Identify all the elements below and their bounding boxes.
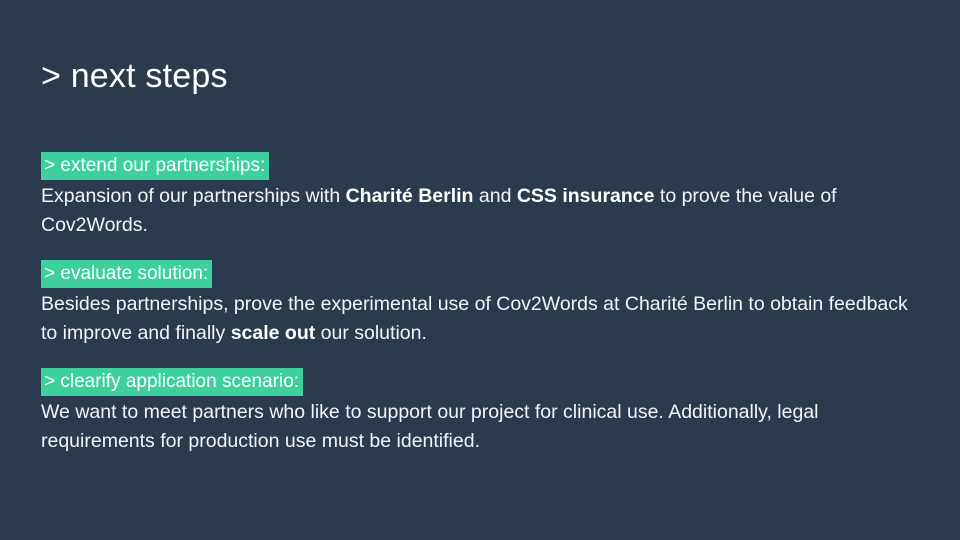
section-heading-highlight: > extend our partnerships: [41, 152, 269, 180]
section-clearify-application-scenario: > clearify application scenario: We want… [41, 368, 931, 456]
emphasis-text: Charité Berlin [346, 185, 474, 207]
plain-text: our solution. [315, 322, 427, 344]
section-heading-highlight: > clearify application scenario: [41, 368, 303, 396]
plain-text: Besides partnerships, prove the experime… [41, 293, 908, 344]
section-extend-partnerships: > extend our partnerships: Expansion of … [41, 152, 931, 240]
plain-text: Expansion of our partnerships with [41, 185, 346, 207]
section-body-text: Expansion of our partnerships with Chari… [41, 182, 926, 240]
section-heading-highlight: > evaluate solution: [41, 260, 212, 288]
emphasis-text: CSS insurance [517, 185, 655, 207]
slide-content: > extend our partnerships: Expansion of … [41, 152, 931, 456]
emphasis-text: scale out [231, 322, 316, 344]
plain-text: We want to meet partners who like to sup… [41, 401, 819, 452]
section-body-text: We want to meet partners who like to sup… [41, 398, 926, 456]
slide-canvas: > next steps > extend our partnerships: … [0, 0, 960, 540]
section-evaluate-solution: > evaluate solution: Besides partnership… [41, 260, 931, 348]
plain-text: and [473, 185, 516, 207]
page-title: > next steps [41, 56, 228, 97]
section-body-text: Besides partnerships, prove the experime… [41, 290, 926, 348]
